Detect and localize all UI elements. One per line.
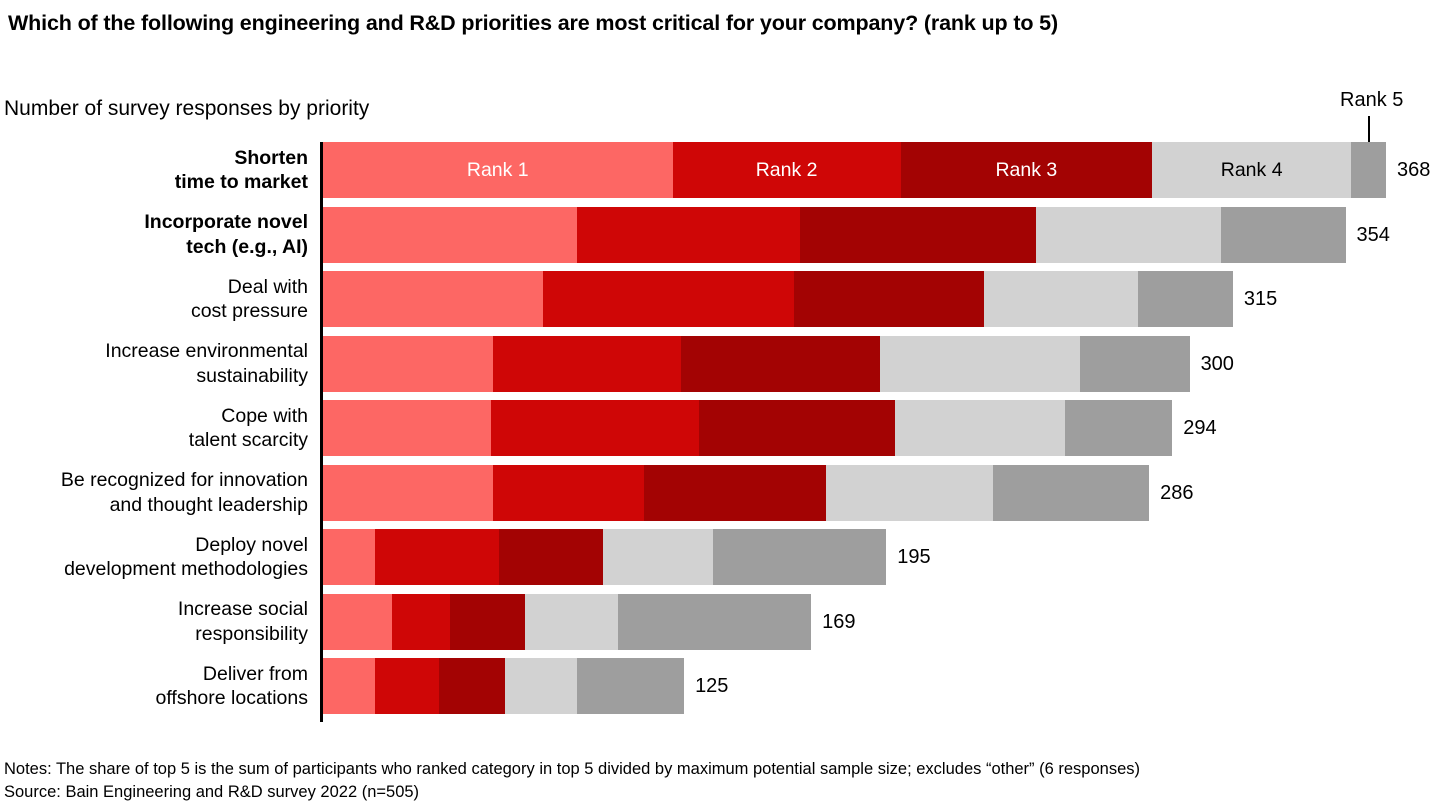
bar-segment-rank-2[interactable] [493, 465, 643, 521]
footnote-source: Source: Bain Engineering and R&D survey … [4, 781, 1434, 804]
category-label-line-2: sustainability [0, 364, 308, 389]
bar-segment-rank-4[interactable] [1036, 207, 1221, 263]
bar-row: Be recognized for innovationand thought … [0, 465, 1440, 521]
bar-segment-rank-2[interactable]: Rank 2 [673, 142, 901, 198]
bar-segment-rank-4[interactable] [984, 271, 1137, 327]
footnotes: Notes: The share of top 5 is the sum of … [4, 758, 1434, 803]
bar-segment-rank-2[interactable] [543, 271, 794, 327]
bar-row: Deal withcost pressure315 [0, 271, 1440, 327]
bar-category-label: Cope withtalent scarcity [0, 404, 308, 453]
stacked-bar[interactable] [323, 336, 1190, 392]
bar-segment-rank-5[interactable] [618, 594, 812, 650]
stacked-bar[interactable] [323, 465, 1149, 521]
rank5-callout-label: Rank 5 [1340, 88, 1403, 112]
bar-total-value: 368 [1397, 159, 1430, 181]
bar-segment-rank-1[interactable]: Rank 1 [323, 142, 673, 198]
bar-segment-rank-3[interactable] [439, 658, 505, 714]
bar-segment-rank-1[interactable] [323, 271, 543, 327]
bar-segment-rank-4[interactable] [880, 336, 1079, 392]
bar-segment-rank-2[interactable] [491, 400, 699, 456]
bar-segment-rank-3[interactable] [794, 271, 985, 327]
bar-segment-rank-2[interactable] [392, 594, 450, 650]
bar-segment-rank-5[interactable] [1080, 336, 1190, 392]
bar-segment-rank-3[interactable] [644, 465, 826, 521]
bar-segment-rank-5[interactable] [577, 658, 684, 714]
bar-segment-rank-2[interactable] [375, 529, 499, 585]
category-label-line-2: development methodologies [0, 557, 308, 582]
bar-row: Cope withtalent scarcity294 [0, 400, 1440, 456]
category-label-line-1: Shorten [0, 146, 308, 171]
category-label-line-1: Increase environmental [0, 339, 308, 364]
segment-label-rank-4: Rank 4 [1152, 160, 1351, 180]
bar-segment-rank-5[interactable] [1138, 271, 1233, 327]
stacked-bar[interactable] [323, 400, 1172, 456]
category-label-line-1: Deploy novel [0, 533, 308, 558]
bar-segment-rank-3[interactable] [681, 336, 880, 392]
category-label-line-1: Deliver from [0, 662, 308, 687]
bar-category-label: Increase socialresponsibility [0, 597, 308, 646]
bar-segment-rank-3[interactable]: Rank 3 [901, 142, 1152, 198]
bar-segment-rank-3[interactable] [699, 400, 895, 456]
category-label-line-2: responsibility [0, 622, 308, 647]
bar-segment-rank-5[interactable] [1065, 400, 1172, 456]
bar-row: Increase environmentalsustainability300 [0, 336, 1440, 392]
category-label-line-2: tech (e.g., AI) [0, 235, 308, 260]
bar-segment-rank-4[interactable] [505, 658, 577, 714]
bar-row: Shortentime to marketRank 1Rank 2Rank 3R… [0, 142, 1440, 198]
bar-segment-rank-5[interactable] [993, 465, 1149, 521]
bar-category-label: Incorporate noveltech (e.g., AI) [0, 210, 308, 259]
segment-label-rank-2: Rank 2 [673, 160, 901, 180]
bar-segment-rank-5[interactable] [713, 529, 886, 585]
stacked-bar[interactable]: Rank 1Rank 2Rank 3Rank 4 [323, 142, 1386, 198]
bar-segment-rank-1[interactable] [323, 400, 491, 456]
bar-row: Deliver fromoffshore locations125 [0, 658, 1440, 714]
bar-category-label: Be recognized for innovationand thought … [0, 468, 308, 517]
bar-segment-rank-4[interactable] [603, 529, 713, 585]
bar-total-value: 315 [1244, 288, 1277, 310]
bar-segment-rank-2[interactable] [493, 336, 681, 392]
bar-segment-rank-3[interactable] [450, 594, 525, 650]
bar-segment-rank-1[interactable] [323, 336, 493, 392]
bar-total-value: 195 [897, 546, 930, 568]
category-label-line-1: Increase social [0, 597, 308, 622]
bar-segment-rank-2[interactable] [577, 207, 799, 263]
segment-label-rank-1: Rank 1 [323, 160, 673, 180]
bar-segment-rank-5[interactable] [1351, 142, 1386, 198]
bar-row: Incorporate noveltech (e.g., AI)354 [0, 207, 1440, 263]
bar-category-label: Deal withcost pressure [0, 275, 308, 324]
bar-total-value: 300 [1201, 353, 1234, 375]
chart-plot-area: Shortentime to marketRank 1Rank 2Rank 3R… [0, 130, 1440, 725]
bar-segment-rank-1[interactable] [323, 529, 375, 585]
bar-row: Increase socialresponsibility169 [0, 594, 1440, 650]
chart-subtitle: Number of survey responses by priority [4, 96, 369, 121]
category-label-line-2: time to market [0, 170, 308, 195]
footnote-notes: Notes: The share of top 5 is the sum of … [4, 758, 1434, 781]
category-label-line-2: and thought leadership [0, 493, 308, 518]
bar-segment-rank-3[interactable] [800, 207, 1037, 263]
bar-category-label: Shortentime to market [0, 146, 308, 195]
category-label-line-1: Deal with [0, 275, 308, 300]
bar-total-value: 125 [695, 675, 728, 697]
bar-total-value: 294 [1183, 417, 1216, 439]
bar-segment-rank-4[interactable] [826, 465, 994, 521]
page-title: Which of the following engineering and R… [8, 10, 1428, 36]
stacked-bar[interactable] [323, 658, 684, 714]
bar-segment-rank-2[interactable] [375, 658, 439, 714]
bar-segment-rank-4[interactable]: Rank 4 [1152, 142, 1351, 198]
category-label-line-2: talent scarcity [0, 428, 308, 453]
bar-segment-rank-1[interactable] [323, 658, 375, 714]
bar-segment-rank-4[interactable] [525, 594, 617, 650]
segment-label-rank-3: Rank 3 [901, 160, 1152, 180]
category-label-line-2: cost pressure [0, 299, 308, 324]
bar-segment-rank-1[interactable] [323, 465, 493, 521]
stacked-bar[interactable] [323, 594, 811, 650]
bar-row: Deploy noveldevelopment methodologies195 [0, 529, 1440, 585]
bar-segment-rank-3[interactable] [499, 529, 603, 585]
category-label-line-1: Incorporate novel [0, 210, 308, 235]
category-label-line-1: Be recognized for innovation [0, 468, 308, 493]
bar-category-label: Deliver fromoffshore locations [0, 662, 308, 711]
bar-segment-rank-1[interactable] [323, 594, 392, 650]
bar-segment-rank-4[interactable] [895, 400, 1065, 456]
bar-category-label: Deploy noveldevelopment methodologies [0, 533, 308, 582]
category-label-line-2: offshore locations [0, 686, 308, 711]
category-label-line-1: Cope with [0, 404, 308, 429]
stacked-bar[interactable] [323, 271, 1233, 327]
bar-category-label: Increase environmentalsustainability [0, 339, 308, 388]
stacked-bar[interactable] [323, 529, 886, 585]
bar-total-value: 286 [1160, 482, 1193, 504]
bar-segment-rank-1[interactable] [323, 207, 577, 263]
bar-segment-rank-5[interactable] [1221, 207, 1345, 263]
bar-total-value: 354 [1357, 224, 1390, 246]
stacked-bar[interactable] [323, 207, 1346, 263]
bar-total-value: 169 [822, 611, 855, 633]
